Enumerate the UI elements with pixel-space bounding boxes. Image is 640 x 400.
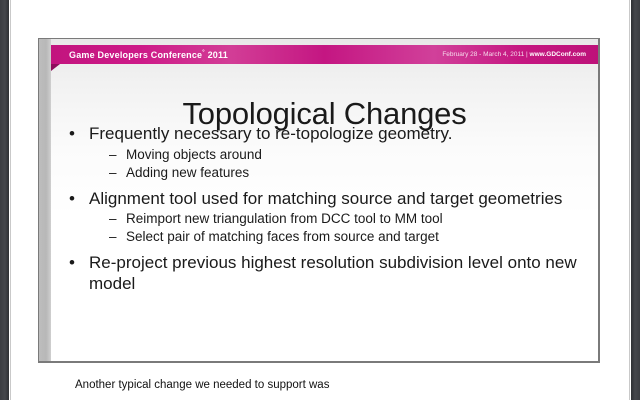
bullet-item-level-1: •Alignment tool used for matching source… [69,189,580,210]
slide-bullet-list: •Frequently necessary to re-topologize g… [69,124,580,296]
slide-left-stripe [39,39,51,361]
bullet-dash-marker: – [109,228,126,246]
bullet-dash-marker: – [109,210,126,228]
document-viewer: Game Developers Conference° 2011 Februar… [0,0,640,400]
bullet-dot-marker: • [69,253,89,274]
bullet-item-level-2: –Adding new features [109,164,580,182]
bullet-group-gap [69,246,580,253]
gdc-banner-url: www.GDConf.com [530,51,586,58]
viewer-left-hairline [10,0,11,400]
bullet-dot-marker: • [69,189,89,210]
bullet-text: Moving objects around [126,146,262,164]
gdc-banner-dates: February 28 - March 4, 2011 [442,51,524,58]
gdc-header-banner: Game Developers Conference° 2011 Februar… [51,45,598,64]
viewer-right-hairline [629,0,630,400]
gdc-banner-year: 2011 [208,50,228,60]
bullet-text: Select pair of matching faces from sourc… [126,228,439,246]
bullet-text: Reimport new triangulation from DCC tool… [126,210,443,228]
bullet-item-level-2: –Select pair of matching faces from sour… [109,228,580,246]
bullet-item-level-1: •Frequently necessary to re-topologize g… [69,124,580,145]
bullet-dash-marker: – [109,146,126,164]
bullet-item-level-1: •Re-project previous highest resolution … [69,253,580,294]
bullet-dot-marker: • [69,124,89,145]
bullet-item-level-2: –Moving objects around [109,146,580,164]
gdc-banner-tail-triangle [51,64,60,71]
gdc-banner-separator: | [526,51,528,58]
gdc-banner-title: Game Developers Conference° 2011 [51,50,228,60]
gdc-banner-conference-name: Game Developers Conference [69,50,202,60]
presentation-slide: Game Developers Conference° 2011 Februar… [38,38,600,363]
viewer-right-edge-bar [631,0,640,400]
bullet-text: Adding new features [126,164,249,182]
gdc-banner-trademark-mark: ° [202,50,205,56]
bullet-text: Alignment tool used for matching source … [89,189,562,210]
slide-caption: Another typical change we needed to supp… [75,379,329,391]
bullet-group-gap [69,182,580,189]
gdc-banner-info: February 28 - March 4, 2011 | www.GDConf… [442,51,598,58]
bullet-item-level-2: –Reimport new triangulation from DCC too… [109,210,580,228]
viewer-left-edge-bar [0,0,9,400]
bullet-text: Re-project previous highest resolution s… [89,253,580,294]
bullet-dash-marker: – [109,164,126,182]
bullet-text: Frequently necessary to re-topologize ge… [89,124,452,145]
